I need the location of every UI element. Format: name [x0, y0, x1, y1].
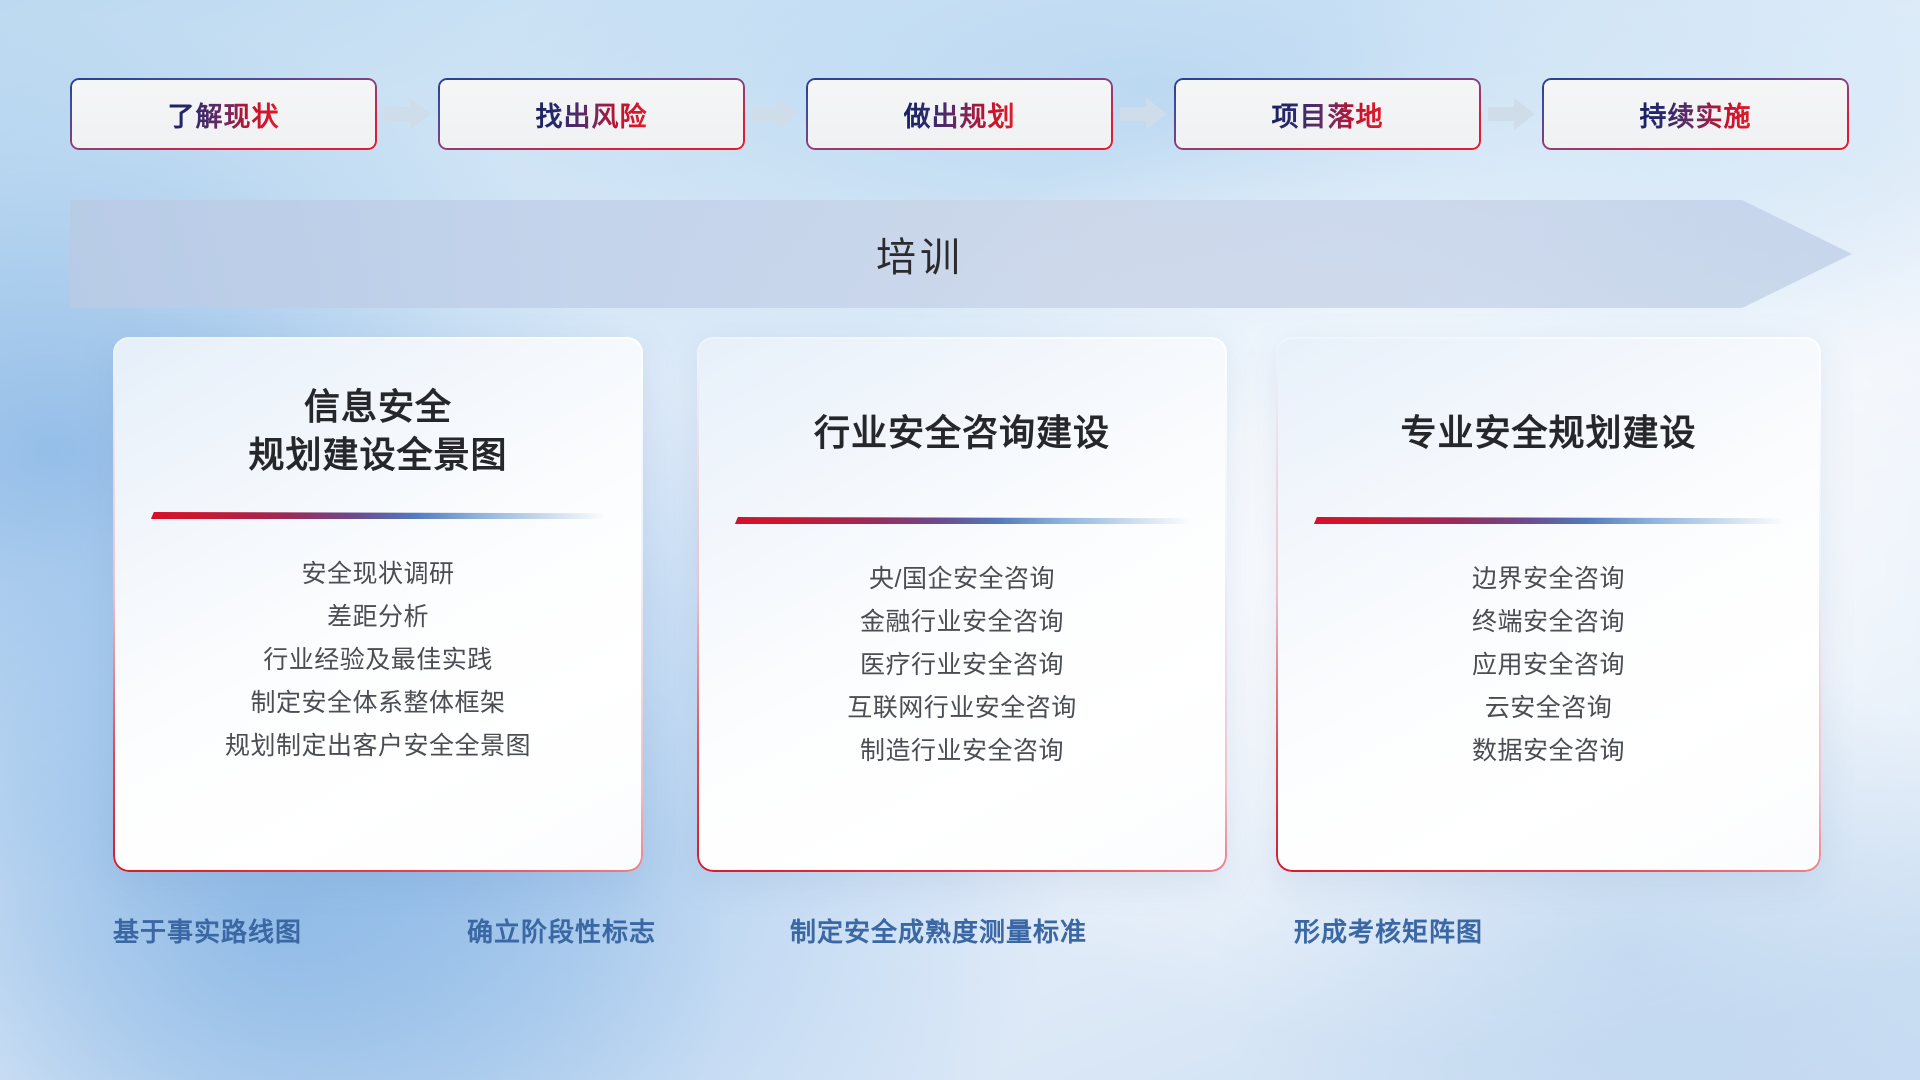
flow-arrow-icon-2	[745, 78, 806, 150]
list-item: 终端安全咨询	[1302, 601, 1795, 644]
card-1-divider	[150, 512, 605, 519]
flow-arrow-icon-4	[1481, 78, 1542, 150]
flow-step-3-label: 做出规划	[904, 95, 1016, 134]
list-item: 应用安全咨询	[1302, 644, 1795, 687]
flow-step-2-label: 找出风险	[536, 95, 648, 134]
flow-step-4[interactable]: 项目落地	[1174, 78, 1481, 150]
flow-step-1[interactable]: 了解现状	[70, 78, 377, 150]
list-item: 金融行业安全咨询	[723, 601, 1201, 644]
card-2-list: 央/国企安全咨询 金融行业安全咨询 医疗行业安全咨询 互联网行业安全咨询 制造行…	[723, 558, 1201, 773]
flow-arrow-icon-3	[1113, 78, 1174, 150]
card-2-divider	[734, 517, 1189, 524]
card-3-title: 专业安全规划建设	[1400, 337, 1696, 457]
list-item: 央/国企安全咨询	[723, 558, 1201, 601]
list-item: 差距分析	[139, 596, 617, 639]
card-information-security-panorama[interactable]: 信息安全 规划建设全景图 安全现状调研 差距分析 行业经验及最佳实践 制定安全体…	[113, 337, 643, 872]
list-item: 医疗行业安全咨询	[723, 644, 1201, 687]
training-banner: 培训	[70, 200, 1852, 308]
outcome-label-3: 制定安全成熟度测量标准	[790, 912, 1087, 949]
list-item: 规划制定出客户安全全景图	[139, 725, 617, 768]
flow-step-3[interactable]: 做出规划	[806, 78, 1113, 150]
flow-step-5[interactable]: 持续实施	[1542, 78, 1849, 150]
flow-arrow-icon-1	[377, 78, 438, 150]
card-1-list: 安全现状调研 差距分析 行业经验及最佳实践 制定安全体系整体框架 规划制定出客户…	[139, 553, 617, 768]
training-banner-label: 培训	[70, 200, 1770, 308]
card-3-divider	[1313, 517, 1783, 524]
process-flow-row: 了解现状 找出风险 做出规划 项目落地	[70, 78, 1850, 150]
list-item: 行业经验及最佳实践	[139, 639, 617, 682]
card-industry-security-consulting[interactable]: 行业安全咨询建设 央/国企安全咨询 金融行业安全咨询 医疗行业安全咨询 互联网行…	[697, 337, 1227, 872]
list-item: 制定安全体系整体框架	[139, 682, 617, 725]
outcome-label-2: 确立阶段性标志	[467, 912, 656, 949]
card-3-list: 边界安全咨询 终端安全咨询 应用安全咨询 云安全咨询 数据安全咨询	[1302, 558, 1795, 773]
list-item: 互联网行业安全咨询	[723, 687, 1201, 730]
card-professional-security-planning[interactable]: 专业安全规划建设 边界安全咨询 终端安全咨询 应用安全咨询 云安全咨询 数据安全…	[1276, 337, 1821, 872]
list-item: 制造行业安全咨询	[723, 730, 1201, 773]
list-item: 边界安全咨询	[1302, 558, 1795, 601]
outcome-labels-row: 基于事实路线图 确立阶段性标志 制定安全成熟度测量标准 形成考核矩阵图	[0, 912, 1920, 958]
card-1-title: 信息安全 规划建设全景图	[248, 337, 507, 478]
list-item: 云安全咨询	[1302, 687, 1795, 730]
slide-canvas: 了解现状 找出风险 做出规划 项目落地	[0, 0, 1920, 1080]
flow-step-5-label: 持续实施	[1640, 95, 1752, 134]
outcome-label-4: 形成考核矩阵图	[1294, 912, 1483, 949]
flow-step-4-label: 项目落地	[1272, 95, 1384, 134]
flow-step-1-label: 了解现状	[168, 95, 280, 134]
list-item: 安全现状调研	[139, 553, 617, 596]
outcome-label-1: 基于事实路线图	[113, 912, 302, 949]
card-2-title: 行业安全咨询建设	[814, 337, 1110, 457]
flow-step-2[interactable]: 找出风险	[438, 78, 745, 150]
list-item: 数据安全咨询	[1302, 730, 1795, 773]
